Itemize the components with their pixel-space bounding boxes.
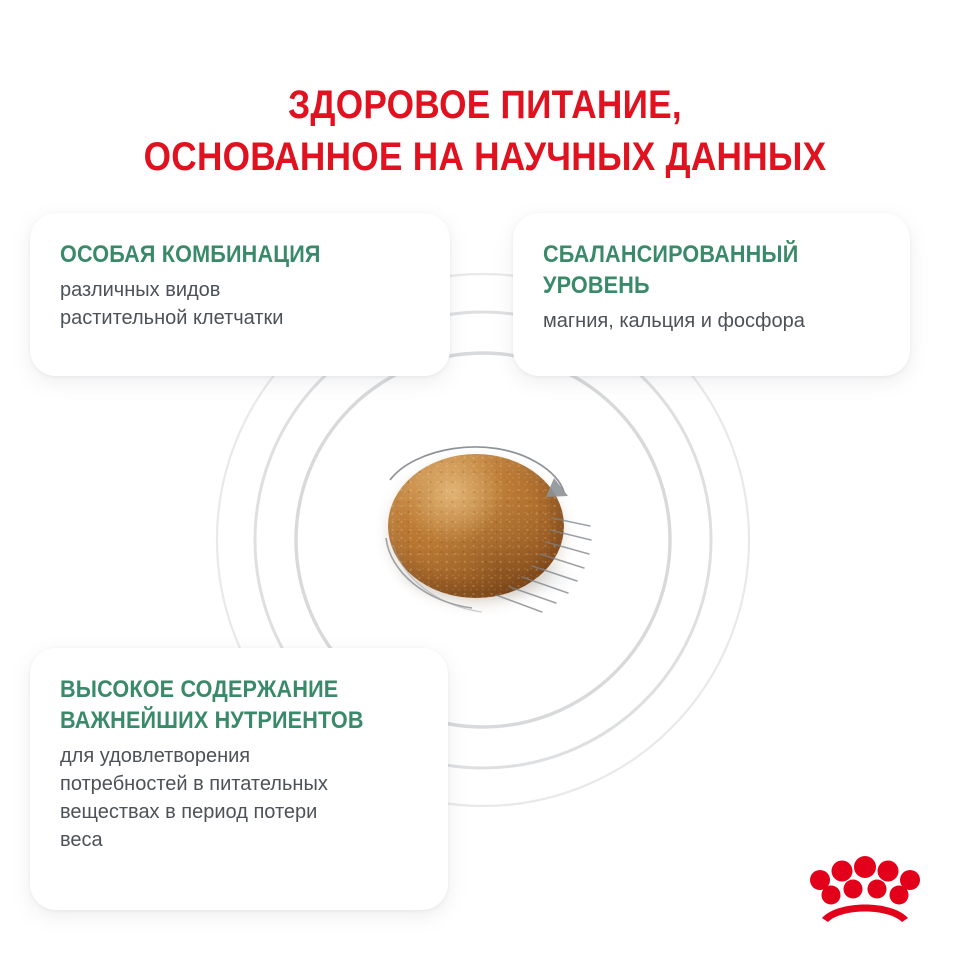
- card-title: ВЫСОКОЕ СОДЕРЖАНИЕ ВАЖНЕЙШИХ НУТРИЕНТОВ: [60, 674, 382, 736]
- card-body: для удовлетворения потребностей в питате…: [60, 742, 418, 854]
- kibble-graphic: [378, 440, 588, 640]
- card-title: ОСОБАЯ КОМБИНАЦИЯ: [60, 239, 384, 270]
- card-high-nutrient-content: ВЫСОКОЕ СОДЕРЖАНИЕ ВАЖНЕЙШИХ НУТРИЕНТОВ …: [30, 648, 448, 910]
- card-content: ОСОБАЯ КОМБИНАЦИЯ различных видов растит…: [30, 213, 450, 358]
- card-body: магния, кальция и фосфора: [543, 307, 880, 335]
- royal-canin-crown-logo: [806, 852, 924, 926]
- page-title: ЗДОРОВОЕ ПИТАНИЕ, ОСНОВАННОЕ НА НАУЧНЫХ …: [58, 79, 912, 183]
- card-body: различных видов растительной клетчатки: [60, 276, 420, 332]
- card-balanced-mineral-level: СБАЛАНСИРОВАННЫЙ УРОВЕНЬ магния, кальция…: [513, 213, 910, 376]
- infographic-page: ЗДОРОВОЕ ПИТАНИЕ, ОСНОВАННОЕ НА НАУЧНЫХ …: [0, 0, 970, 970]
- rotation-arrow-icon: [356, 426, 616, 656]
- card-special-fibre-blend: ОСОБАЯ КОМБИНАЦИЯ различных видов растит…: [30, 213, 450, 376]
- card-content: ВЫСОКОЕ СОДЕРЖАНИЕ ВАЖНЕЙШИХ НУТРИЕНТОВ …: [30, 648, 448, 880]
- card-content: СБАЛАНСИРОВАННЫЙ УРОВЕНЬ магния, кальция…: [513, 213, 910, 361]
- card-title: СБАЛАНСИРОВАННЫЙ УРОВЕНЬ: [543, 239, 846, 301]
